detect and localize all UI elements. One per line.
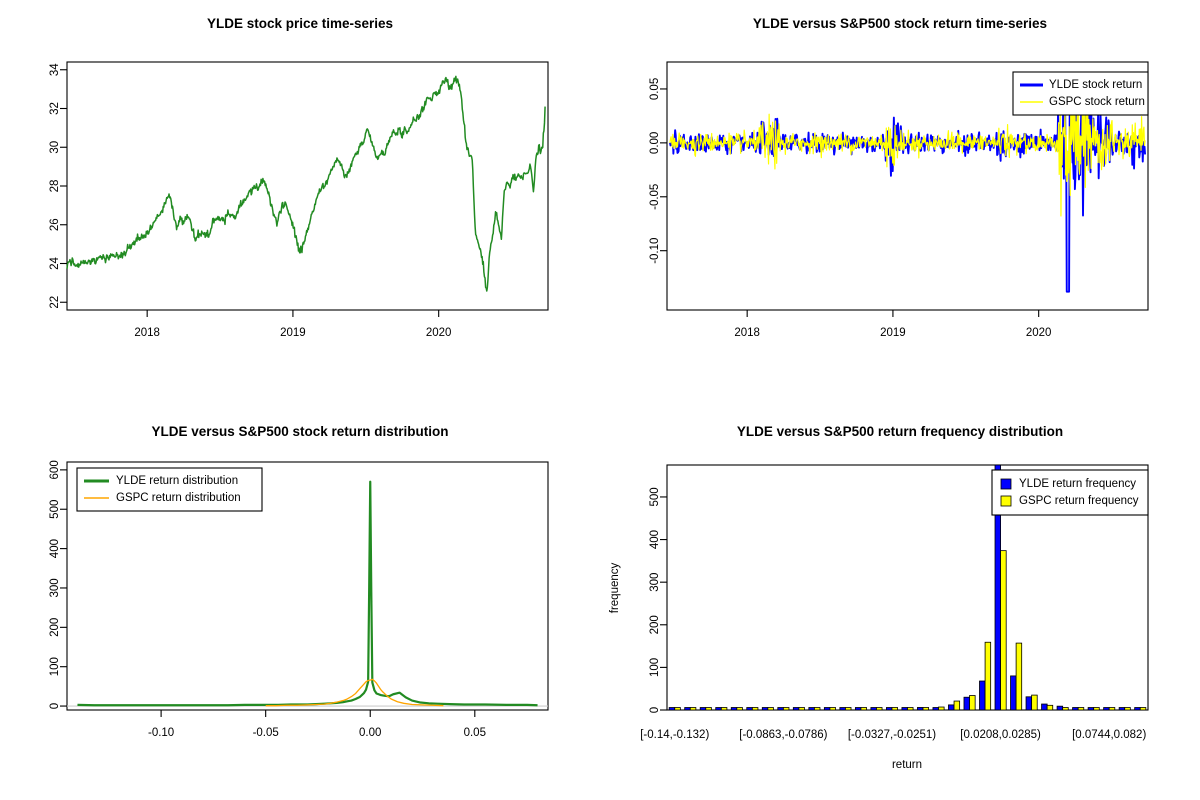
- price-xtick-label: 2020: [426, 327, 452, 339]
- frequency-ytick-label: 500: [649, 487, 661, 506]
- frequency-bar-gspc-8: [799, 708, 805, 711]
- price-xtick-label: 2018: [134, 327, 160, 339]
- frequency-bar-ylde-25: [1057, 706, 1063, 710]
- panel-title-return-ts: YLDE versus S&P500 stock return time-ser…: [753, 16, 1047, 31]
- return-ts-xtick-label: 2019: [880, 327, 906, 339]
- price-xtick-label: 2019: [280, 327, 306, 339]
- density-ylde-line: [77, 482, 537, 706]
- density-ytick-label: 0: [49, 703, 61, 709]
- density-ytick-label: 400: [49, 539, 61, 558]
- frequency-bar-gspc-29: [1125, 708, 1131, 711]
- frequency-bar-gspc-21: [1001, 551, 1007, 710]
- density-legend[interactable]: YLDE return distributionGSPC return dist…: [77, 468, 262, 511]
- frequency-bar-ylde-12: [855, 708, 861, 711]
- frequency-bar-ylde-29: [1119, 708, 1125, 711]
- price-plot-frame: [67, 62, 548, 310]
- frequency-bar-ylde-26: [1073, 708, 1079, 711]
- frequency-bar-gspc-28: [1109, 708, 1115, 711]
- price-ytick-label: 24: [49, 257, 61, 270]
- frequency-bar-ylde-8: [793, 708, 799, 711]
- frequency-bar-gspc-17: [939, 707, 945, 710]
- frequency-xtick-label-0: [-0.14,-0.132): [640, 729, 709, 741]
- frequency-legend[interactable]: YLDE return frequencyGSPC return frequen…: [992, 470, 1148, 515]
- frequency-bar-ylde-9: [809, 708, 815, 711]
- frequency-bar-ylde-15: [902, 708, 908, 711]
- density-legend-label-0: YLDE return distribution: [116, 475, 238, 487]
- frequency-bar-gspc-9: [814, 708, 820, 711]
- return-ts-ytick-label: 0.05: [649, 78, 661, 100]
- panel-price-timeseries: YLDE stock price time-series 22242628303…: [0, 0, 600, 400]
- price-series-group: [67, 76, 545, 291]
- frequency-bar-gspc-11: [845, 708, 851, 711]
- frequency-bar-gspc-27: [1094, 708, 1100, 711]
- frequency-xaxis-title: return: [892, 759, 922, 771]
- density-ytick-label: 300: [49, 578, 61, 597]
- frequency-bar-gspc-4: [737, 708, 743, 711]
- frequency-bar-ylde-13: [871, 708, 877, 711]
- frequency-bar-ylde-6: [762, 708, 768, 711]
- frequency-bar-ylde-10: [824, 708, 830, 711]
- return-ts-xtick-label: 2018: [734, 327, 760, 339]
- frequency-bar-gspc-1: [690, 708, 696, 711]
- panel-title-frequency: YLDE versus S&P500 return frequency dist…: [737, 424, 1063, 439]
- return-ts-axes: -0.10-0.050.000.05201820192020: [649, 78, 1051, 339]
- figure-panel-grid: YLDE stock price time-series 22242628303…: [0, 0, 1200, 800]
- density-xtick-label: 0.05: [464, 727, 486, 739]
- frequency-ytick-label: 400: [649, 530, 661, 549]
- return-ts-ytick-label: -0.10: [649, 238, 661, 264]
- frequency-bar-gspc-22: [1016, 643, 1022, 710]
- frequency-bar-ylde-17: [933, 708, 939, 711]
- panel-return-frequency: YLDE versus S&P500 return frequency dist…: [600, 400, 1200, 800]
- frequency-bar-gspc-26: [1078, 708, 1084, 711]
- return-ts-ytick-label: -0.05: [649, 184, 661, 210]
- return-density-svg: YLDE versus S&P500 stock return distribu…: [0, 400, 600, 800]
- price-axes: 22242628303234201820192020: [49, 63, 451, 339]
- frequency-bar-gspc-6: [768, 708, 774, 711]
- panel-return-timeseries: YLDE versus S&P500 stock return time-ser…: [600, 0, 1200, 400]
- frequency-bar-ylde-30: [1135, 708, 1141, 711]
- frequency-bar-gspc-5: [752, 708, 758, 711]
- frequency-legend-box: [992, 470, 1148, 515]
- frequency-ytick-label: 100: [649, 658, 661, 677]
- price-ytick-label: 22: [49, 296, 61, 309]
- frequency-bar-gspc-30: [1140, 708, 1146, 711]
- frequency-bar-ylde-18: [948, 705, 954, 710]
- frequency-bar-gspc-2: [706, 708, 712, 711]
- frequency-bar-ylde-0: [669, 708, 675, 711]
- frequency-axes: 0100200300400500[-0.14,-0.132)[-0.0863,-…: [640, 487, 1146, 741]
- return-ts-legend[interactable]: YLDE stock returnGSPC stock return: [1013, 72, 1148, 115]
- frequency-bar-gspc-12: [861, 708, 867, 711]
- frequency-legend-swatch-1: [1001, 496, 1011, 506]
- return-ts-ytick-label: 0.00: [649, 132, 661, 154]
- frequency-bar-gspc-15: [908, 708, 914, 711]
- frequency-bar-gspc-0: [675, 708, 681, 711]
- frequency-ytick-label: 300: [649, 573, 661, 592]
- frequency-bar-ylde-20: [979, 681, 985, 710]
- frequency-bar-gspc-25: [1063, 708, 1069, 711]
- frequency-bar-ylde-1: [685, 708, 691, 711]
- density-series-group: [67, 482, 548, 706]
- frequency-bar-gspc-7: [783, 708, 789, 711]
- return-ts-legend-label-0: YLDE stock return: [1049, 79, 1142, 91]
- frequency-bar-ylde-3: [716, 708, 722, 711]
- density-xtick-label: -0.05: [253, 727, 279, 739]
- frequency-ytick-label: 200: [649, 615, 661, 634]
- frequency-bar-gspc-10: [830, 708, 836, 711]
- return-timeseries-svg: YLDE versus S&P500 stock return time-ser…: [600, 0, 1200, 400]
- frequency-bar-gspc-20: [985, 642, 991, 710]
- price-line: [67, 76, 545, 291]
- price-timeseries-svg: YLDE stock price time-series 22242628303…: [0, 0, 600, 400]
- frequency-bar-gspc-23: [1032, 695, 1038, 710]
- frequency-bar-ylde-22: [1011, 676, 1017, 710]
- frequency-bar-ylde-7: [778, 708, 784, 711]
- frequency-bar-ylde-16: [917, 707, 923, 710]
- density-ytick-label: 600: [49, 460, 61, 479]
- frequency-bar-ylde-14: [886, 708, 892, 711]
- frequency-bar-ylde-4: [731, 708, 737, 711]
- panel-title-density: YLDE versus S&P500 stock return distribu…: [151, 424, 448, 439]
- frequency-bar-ylde-19: [964, 697, 970, 710]
- density-ytick-label: 500: [49, 500, 61, 519]
- frequency-bar-gspc-24: [1047, 705, 1053, 710]
- frequency-xtick-label-4: [0.0744,0.082): [1072, 729, 1146, 741]
- frequency-legend-label-1: GSPC return frequency: [1019, 495, 1139, 507]
- panel-title-price: YLDE stock price time-series: [207, 16, 393, 31]
- frequency-bar-gspc-14: [892, 708, 898, 711]
- frequency-legend-swatch-0: [1001, 479, 1011, 489]
- frequency-bar-gspc-16: [923, 708, 929, 711]
- frequency-bar-gspc-18: [954, 701, 960, 710]
- price-ytick-label: 26: [49, 218, 61, 231]
- return-ts-series-group: [670, 87, 1145, 292]
- price-ytick-label: 30: [49, 141, 61, 154]
- frequency-bar-ylde-11: [840, 708, 846, 711]
- frequency-xtick-label-3: [0.0208,0.0285): [960, 729, 1041, 741]
- frequency-bar-ylde-23: [1026, 697, 1032, 710]
- return-ts-legend-label-1: GSPC stock return: [1049, 96, 1145, 108]
- return-ts-xtick-label: 2020: [1026, 327, 1052, 339]
- price-ytick-label: 34: [49, 63, 61, 76]
- frequency-bar-gspc-13: [876, 708, 882, 711]
- frequency-ytick-label: 0: [649, 707, 661, 713]
- frequency-bar-ylde-24: [1042, 704, 1048, 710]
- frequency-bar-gspc-19: [970, 696, 976, 710]
- return-frequency-svg: YLDE versus S&P500 return frequency dist…: [600, 400, 1200, 800]
- frequency-legend-label-0: YLDE return frequency: [1019, 478, 1136, 490]
- frequency-bar-ylde-28: [1104, 708, 1110, 711]
- density-xtick-label: 0.00: [359, 727, 381, 739]
- frequency-bar-ylde-2: [700, 708, 706, 711]
- density-ytick-label: 200: [49, 618, 61, 637]
- panel-return-density: YLDE versus S&P500 stock return distribu…: [0, 400, 600, 800]
- frequency-yaxis-title: frequency: [609, 563, 621, 614]
- density-xtick-label: -0.10: [148, 727, 174, 739]
- price-ytick-label: 28: [49, 180, 61, 193]
- price-ytick-label: 32: [49, 102, 61, 115]
- frequency-bar-ylde-5: [747, 708, 753, 711]
- frequency-xtick-label-2: [-0.0327,-0.0251): [848, 729, 936, 741]
- frequency-xtick-label-1: [-0.0863,-0.0786): [739, 729, 827, 741]
- density-ytick-label: 100: [49, 657, 61, 676]
- frequency-bar-gspc-3: [721, 708, 727, 711]
- density-legend-label-1: GSPC return distribution: [116, 492, 241, 504]
- frequency-bar-ylde-27: [1088, 708, 1094, 711]
